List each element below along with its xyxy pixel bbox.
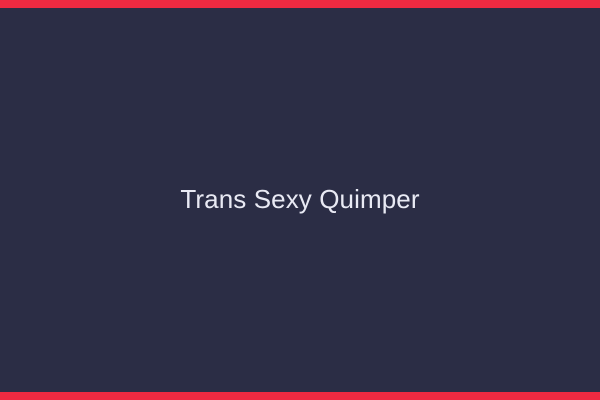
placeholder-card: Trans Sexy Quimper [0, 0, 600, 400]
bottom-accent-bar [0, 392, 600, 400]
page-title: Trans Sexy Quimper [156, 184, 443, 215]
top-accent-bar [0, 0, 600, 8]
